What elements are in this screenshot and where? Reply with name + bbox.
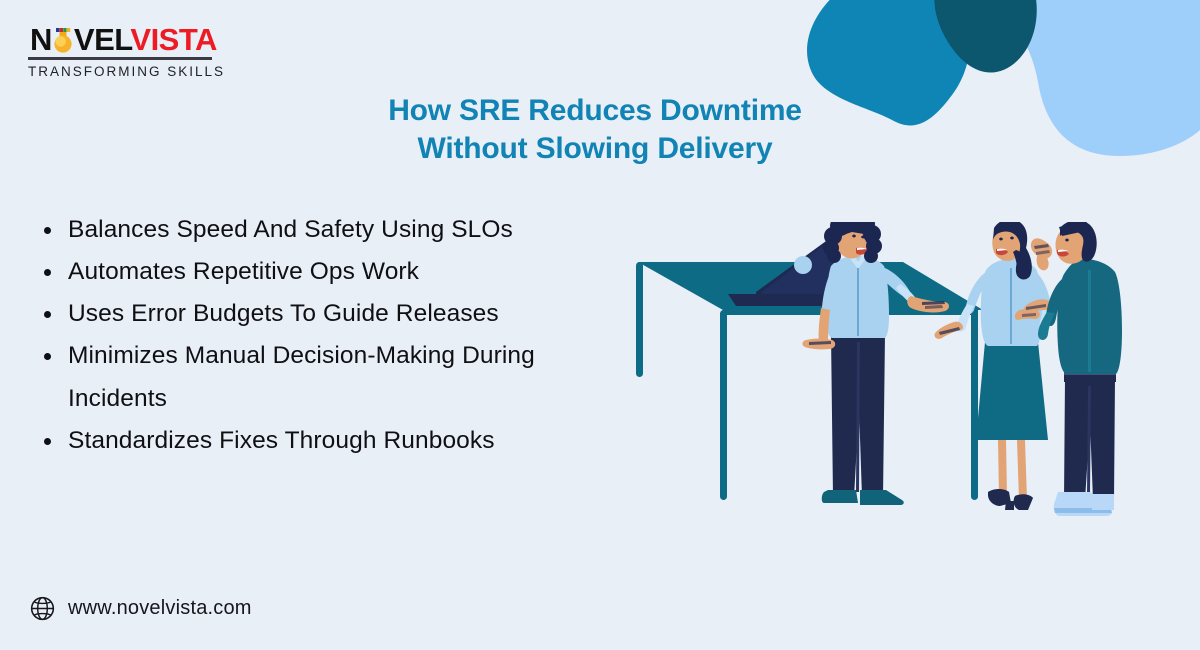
title-line-1: How SRE Reduces Downtime [300, 92, 890, 130]
list-item: Standardizes Fixes Through Runbooks [44, 420, 634, 462]
logo-wordmark: N VELVISTA [28, 24, 218, 55]
list-item: Uses Error Budgets To Guide Releases [44, 293, 634, 335]
person-man [1031, 222, 1122, 516]
bullet-dot-icon [44, 353, 51, 360]
logo-text-vista: VISTA [130, 22, 217, 57]
list-item: Automates Repetitive Ops Work [44, 251, 634, 293]
list-item-label: Balances Speed And Safety Using SLOs [68, 209, 634, 251]
list-item-label: Automates Repetitive Ops Work [68, 251, 634, 293]
bullet-dot-icon [44, 227, 51, 234]
person-woman-teal-skirt [935, 222, 1052, 510]
bullet-dot-icon [44, 438, 51, 445]
footer: www.novelvista.com [30, 596, 252, 621]
brand-logo[interactable]: N VELVISTA TRANSFORMING SKILLS [28, 24, 218, 79]
lightbulb-icon [52, 28, 74, 54]
logo-divider [28, 57, 212, 60]
page-title: How SRE Reduces Downtime Without Slowing… [300, 92, 890, 169]
list-item-label: Uses Error Budgets To Guide Releases [68, 293, 634, 335]
dark-teal-blob [934, 0, 1036, 73]
light-blue-blob-lower [970, 0, 1200, 156]
infographic-canvas: { "brand": { "logo": { "part1": "N", "bu… [0, 0, 1200, 650]
list-item: Minimizes Manual Decision-Making During … [44, 335, 634, 419]
three-colleagues-discussion-illustration [628, 222, 1173, 537]
title-line-2: Without Slowing Delivery [300, 130, 890, 168]
logo-text-n: N [30, 22, 52, 57]
globe-icon [30, 596, 55, 621]
list-item: Balances Speed And Safety Using SLOs [44, 209, 634, 251]
bullet-dot-icon [44, 269, 51, 276]
key-points-list: Balances Speed And Safety Using SLOs Aut… [44, 209, 634, 462]
logo-text-vel: VEL [74, 22, 131, 57]
list-item-label: Standardizes Fixes Through Runbooks [68, 420, 634, 462]
light-blue-blob [955, 0, 1200, 148]
list-item-label: Minimizes Manual Decision-Making During … [68, 335, 634, 419]
laptop-logo-icon [794, 256, 812, 274]
light-blue-blob-body [945, 0, 1200, 220]
logo-tagline: TRANSFORMING SKILLS [28, 64, 218, 79]
bullet-dot-icon [44, 311, 51, 318]
website-url[interactable]: www.novelvista.com [68, 597, 252, 620]
